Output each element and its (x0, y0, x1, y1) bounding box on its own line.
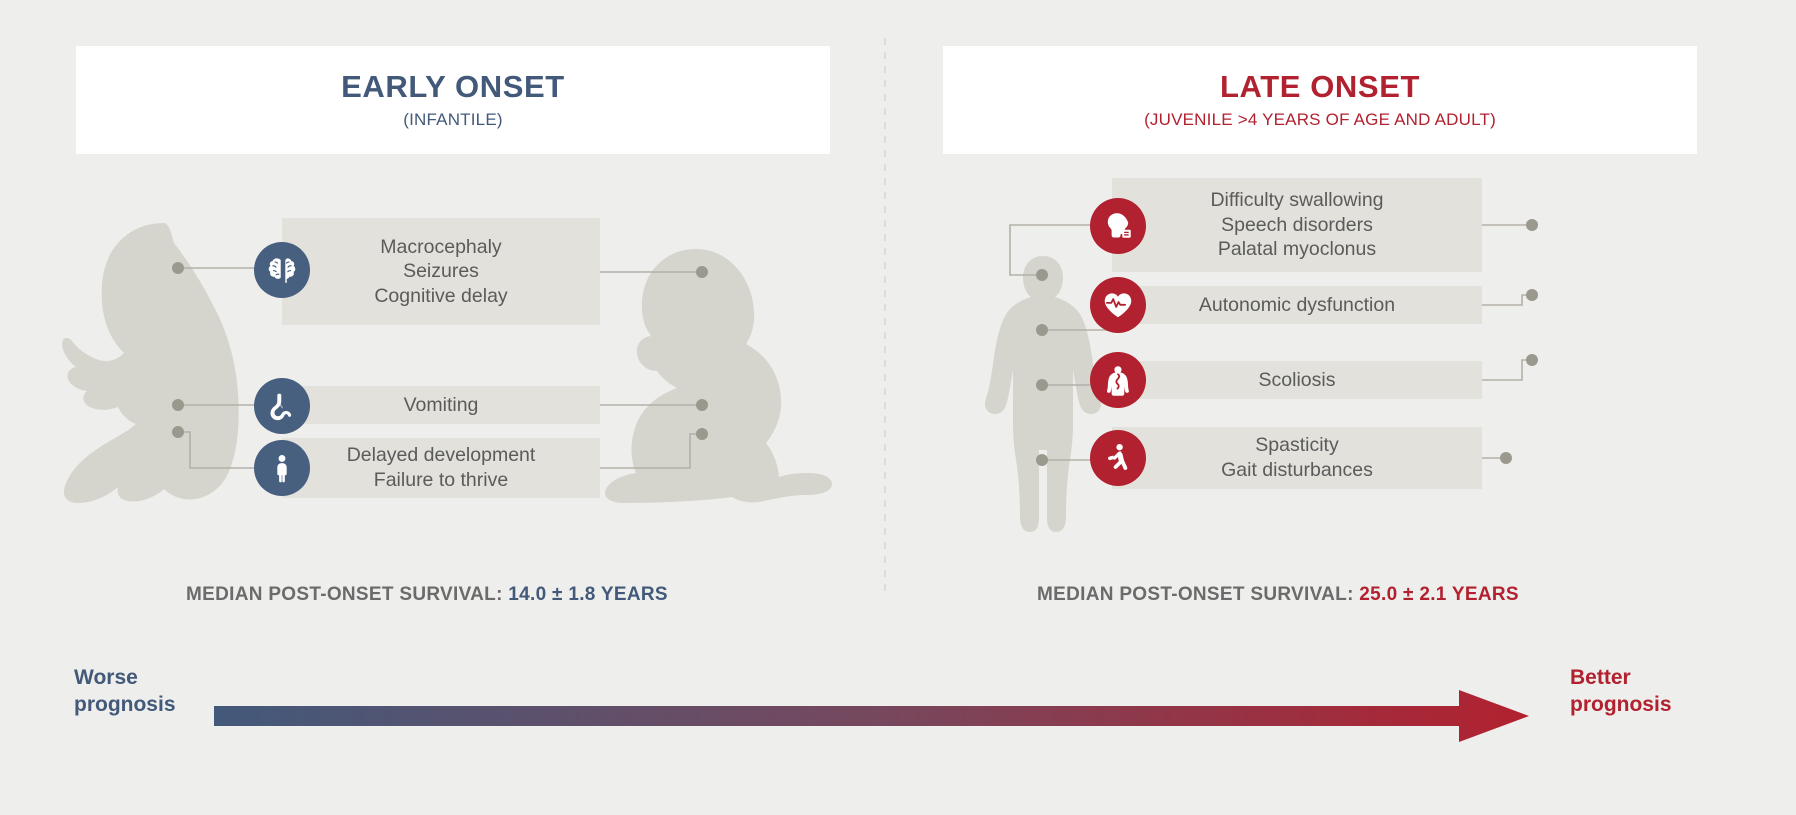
heart-pulse-icon[interactable] (1090, 277, 1146, 333)
symptom-box-delayed-development: Delayed development Failure to thrive (282, 438, 600, 498)
spine-torso-icon[interactable] (1090, 352, 1146, 408)
worse-prognosis-label: Worse prognosis (74, 665, 176, 719)
early-onset-banner: EARLY ONSET (INFANTILE) (76, 46, 830, 154)
stomach-icon[interactable] (254, 378, 310, 434)
late-onset-banner: LATE ONSET (JUVENILE >4 YEARS OF AGE AND… (943, 46, 1697, 154)
symptom-box-scoliosis: Scoliosis (1112, 361, 1482, 399)
survival-value: 14.0 ± 1.8 YEARS (508, 584, 668, 605)
symptom-line: Autonomic dysfunction (1199, 293, 1395, 318)
infographic-stage: EARLY ONSET (INFANTILE) (0, 0, 1796, 815)
better-prognosis-line2: prognosis (1570, 692, 1672, 719)
symptom-line: Failure to thrive (374, 468, 508, 493)
symptom-box-vomiting: Vomiting (282, 386, 600, 424)
symptom-box-difficulty-swallowing: Difficulty swallowing Speech disorders P… (1112, 178, 1482, 272)
symptom-line: Spasticity (1255, 433, 1338, 458)
symptom-line: Macrocephaly (380, 235, 501, 260)
symptom-box-macrocephaly: Macrocephaly Seizures Cognitive delay (282, 218, 600, 325)
late-onset-survival: MEDIAN POST-ONSET SURVIVAL: 25.0 ± 2.1 Y… (1037, 584, 1519, 606)
worse-prognosis-line2: prognosis (74, 692, 176, 719)
late-onset-subtitle: (JUVENILE >4 YEARS OF AGE AND ADULT) (1144, 110, 1496, 130)
symptom-box-autonomic-dysfunction: Autonomic dysfunction (1112, 286, 1482, 324)
symptom-line: Scoliosis (1259, 368, 1336, 393)
early-onset-title: EARLY ONSET (341, 70, 565, 104)
walking-person-icon[interactable] (1090, 430, 1146, 486)
better-prognosis-line1: Better (1570, 665, 1672, 692)
late-onset-title: LATE ONSET (1220, 70, 1420, 104)
better-prognosis-label: Better prognosis (1570, 665, 1672, 719)
symptom-line: Gait disturbances (1221, 458, 1373, 483)
symptom-line: Delayed development (347, 443, 536, 468)
early-onset-subtitle: (INFANTILE) (403, 110, 503, 130)
fetus-silhouette (46, 215, 276, 505)
symptom-line: Palatal myoclonus (1218, 237, 1376, 262)
survival-label: MEDIAN POST-ONSET SURVIVAL: (1037, 584, 1354, 605)
symptom-line: Vomiting (404, 393, 479, 418)
survival-value: 25.0 ± 2.1 YEARS (1359, 584, 1519, 605)
brain-icon[interactable] (254, 242, 310, 298)
symptom-box-spasticity: Spasticity Gait disturbances (1112, 427, 1482, 489)
worse-prognosis-line1: Worse (74, 665, 176, 692)
infant-person-icon[interactable] (254, 440, 310, 496)
symptom-line: Cognitive delay (374, 284, 507, 309)
survival-label: MEDIAN POST-ONSET SURVIVAL: (186, 584, 503, 605)
prognosis-arrow (214, 690, 1529, 742)
child-silhouette (978, 250, 1108, 545)
head-speech-icon[interactable] (1090, 198, 1146, 254)
symptom-line: Seizures (403, 259, 479, 284)
sitting-infant-silhouette (600, 245, 840, 505)
symptom-line: Difficulty swallowing (1210, 188, 1383, 213)
symptom-line: Speech disorders (1221, 213, 1373, 238)
early-onset-survival: MEDIAN POST-ONSET SURVIVAL: 14.0 ± 1.8 Y… (186, 584, 668, 606)
